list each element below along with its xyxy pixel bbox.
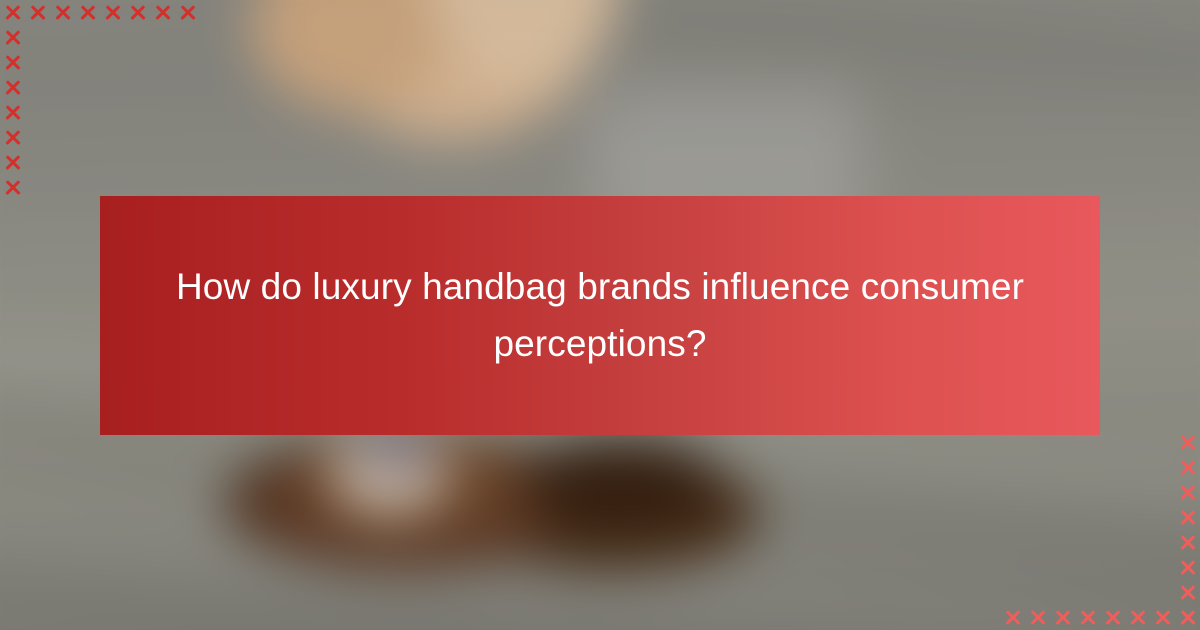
headline-line-1: How do luxury handbag brands influence bbox=[176, 266, 850, 307]
social-card: How do luxury handbag brands influence c… bbox=[0, 0, 1200, 630]
page-title: How do luxury handbag brands influence c… bbox=[100, 259, 1100, 371]
headline-banner: How do luxury handbag brands influence c… bbox=[100, 196, 1100, 435]
